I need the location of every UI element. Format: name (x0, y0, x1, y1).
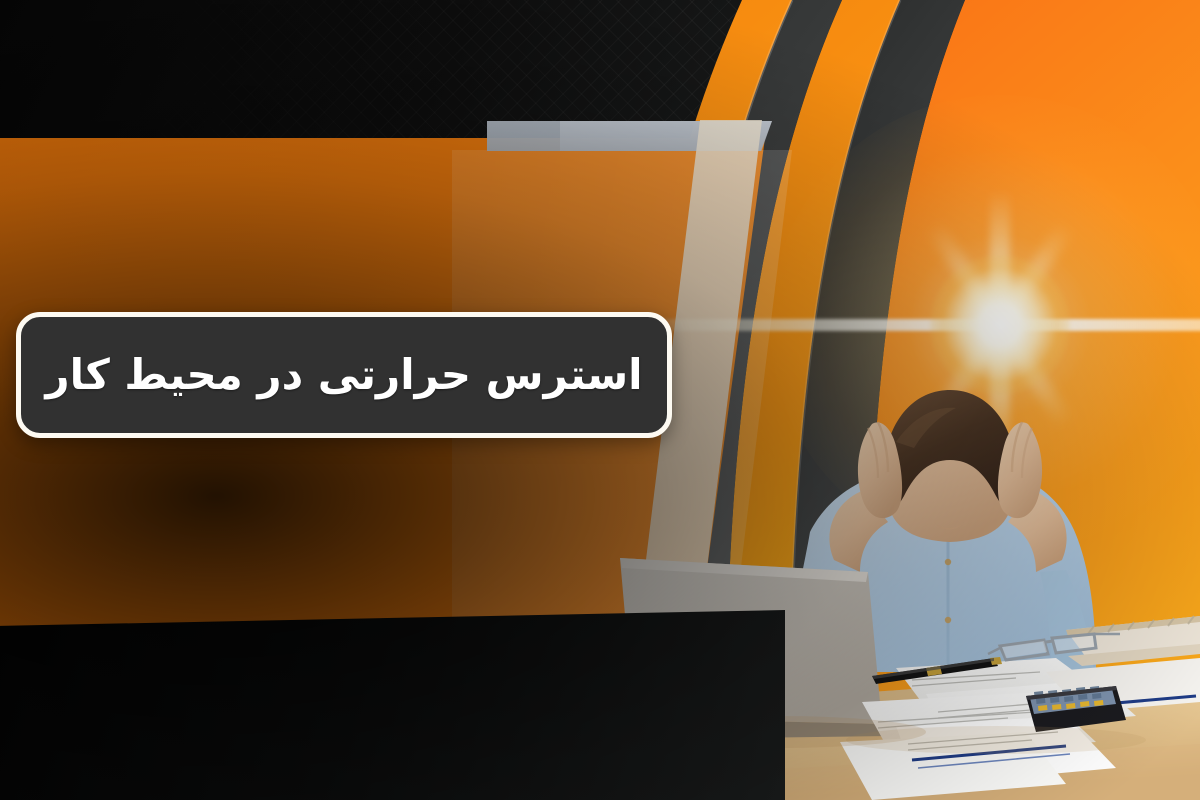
title-plate: استرس حرارتی در محیط کار (16, 312, 672, 438)
page-title: استرس حرارتی در محیط کار (45, 354, 642, 396)
banner-stage: استرس حرارتی در محیط کار (0, 0, 1200, 800)
